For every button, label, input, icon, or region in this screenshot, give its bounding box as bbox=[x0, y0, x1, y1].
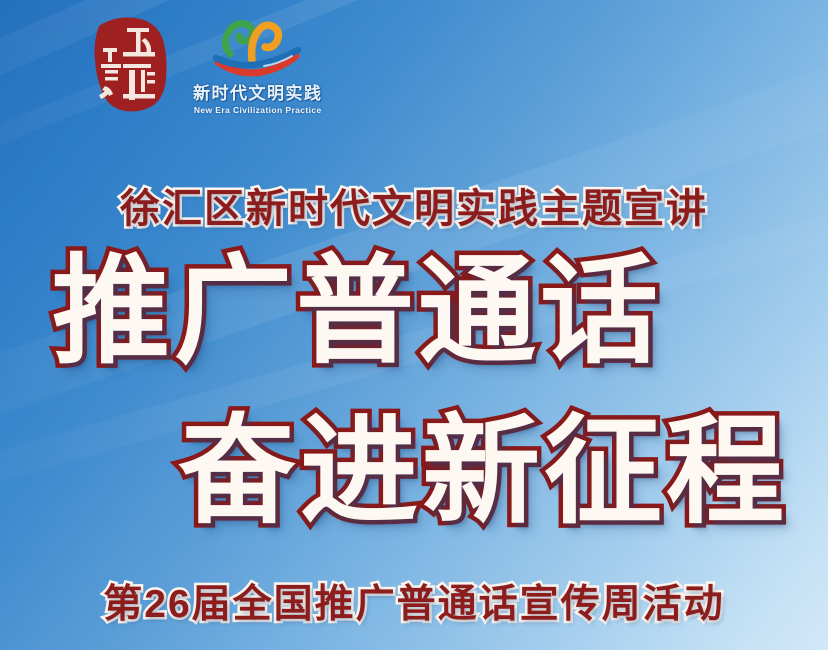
poster-subtitle: 徐汇区新时代文明实践主题宣讲 bbox=[0, 176, 828, 234]
emblem-title-cn: 新时代文明实践 bbox=[193, 79, 323, 104]
poster-footer-line: 第26届全国推广普通话宣传周活动 bbox=[0, 573, 828, 629]
headline-line-1: 推广普通话 bbox=[52, 253, 662, 371]
poster-canvas: 新时代文明实践 New Era Civilization Practice 徐汇… bbox=[0, 0, 828, 650]
logo-row: 新时代文明实践 New Era Civilization Practice bbox=[83, 12, 323, 116]
new-era-civilization-practice-emblem-icon bbox=[208, 16, 308, 78]
shanghai-xuhui-seal-icon bbox=[83, 12, 175, 116]
emblem-block: 新时代文明实践 New Era Civilization Practice bbox=[193, 12, 323, 115]
emblem-title-en: New Era Civilization Practice bbox=[194, 105, 322, 115]
headline-line-2: 奋进新征程 bbox=[178, 413, 788, 531]
